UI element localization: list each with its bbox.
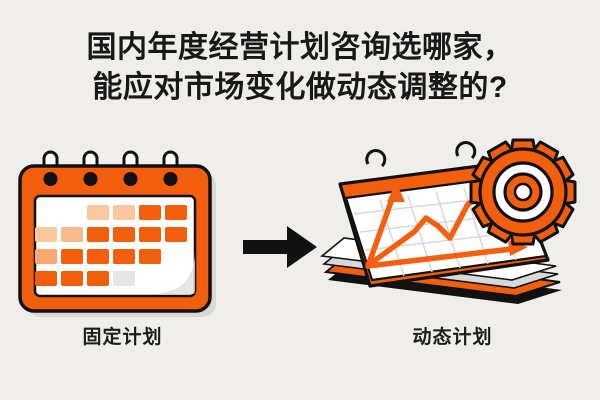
fixed-plan-calendar-icon [10, 150, 235, 320]
calendar-rings [367, 142, 475, 166]
dynamic-plan-caption: 动态计划 [310, 322, 595, 349]
dynamic-plan-panel: 动态计划 [310, 140, 595, 365]
dynamic-plan-calendar-icon [310, 140, 595, 320]
fixed-plan-panel: 固定计划 [10, 150, 235, 365]
poster-canvas: 国内年度经营计划咨询选哪家， 能应对市场变化做动态调整的? [0, 0, 600, 400]
headline-line-2: 能应对市场变化做动态调整的? [0, 68, 600, 108]
fixed-plan-caption: 固定计划 [10, 322, 235, 349]
page-title: 国内年度经营计划咨询选哪家， 能应对市场变化做动态调整的? [0, 28, 600, 108]
headline-line-1: 国内年度经营计划咨询选哪家， [0, 28, 600, 68]
